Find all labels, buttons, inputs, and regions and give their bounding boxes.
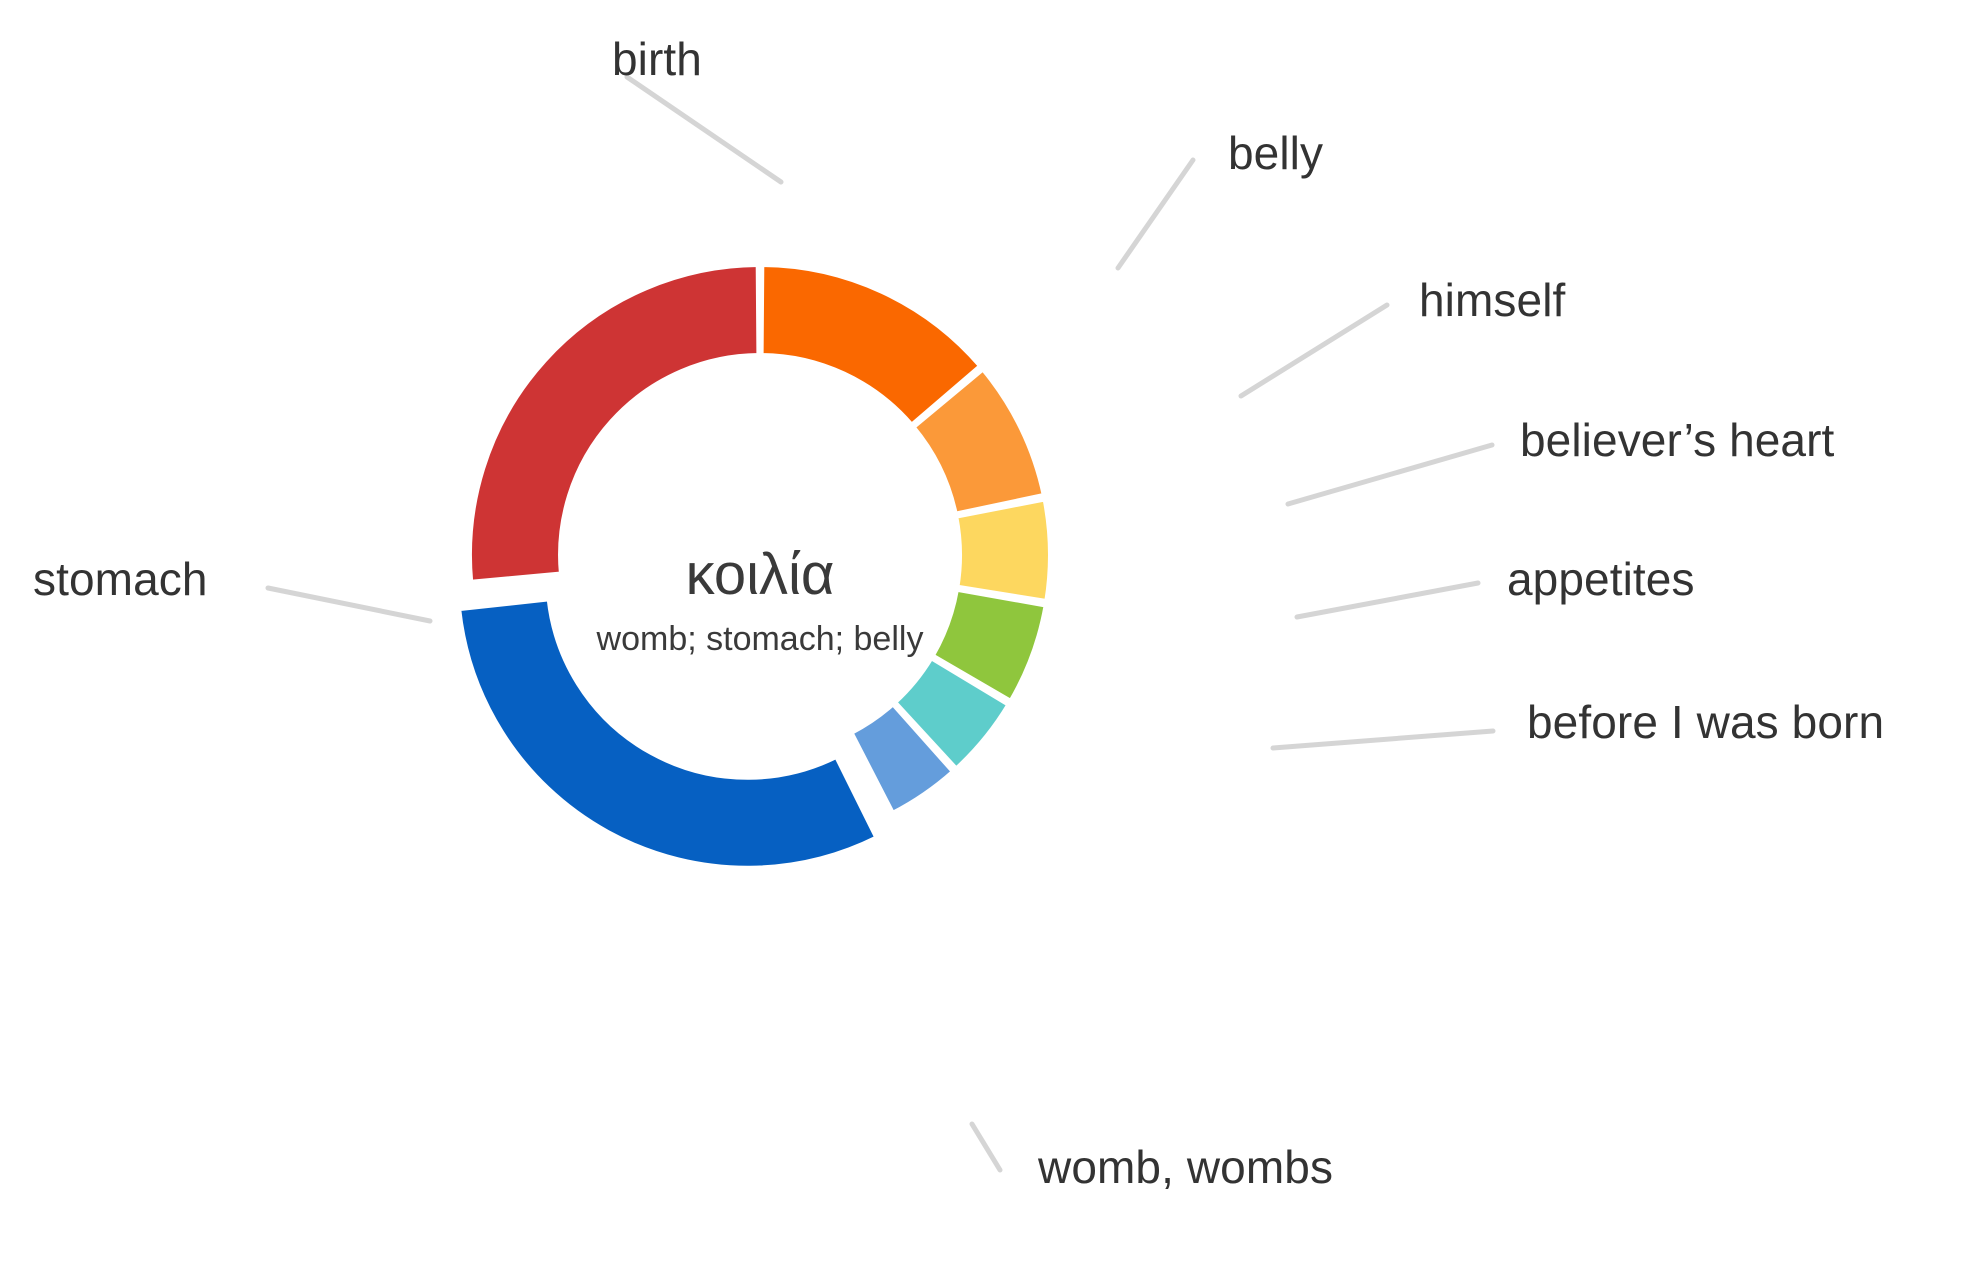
leader-line-belly — [1118, 160, 1193, 268]
center-gloss: womb; stomach; belly — [560, 620, 960, 659]
label-before-i-was-born: before I was born — [1527, 699, 1884, 745]
label-belly: belly — [1228, 130, 1323, 176]
label-birth: birth — [612, 36, 702, 82]
slice-himself[interactable] — [956, 500, 1050, 602]
leader-line-birth — [627, 77, 781, 182]
slice-stomach[interactable] — [470, 265, 758, 582]
donut-chart-figure: birth belly himself believer’s heart app… — [0, 0, 1962, 1277]
center-label: κοιλία womb; stomach; belly — [560, 545, 960, 659]
leader-line-before-i-was-born — [1273, 731, 1493, 748]
donut-chart-svg — [0, 0, 1962, 1277]
leader-line-stomach — [268, 588, 430, 621]
leader-line-womb-wombs — [972, 1124, 1000, 1170]
label-womb-wombs: womb, wombs — [1038, 1144, 1333, 1190]
label-appetites: appetites — [1507, 556, 1695, 602]
label-stomach: stomach — [33, 556, 208, 602]
center-headword: κοιλία — [560, 545, 960, 606]
leader-line-believers-heart — [1288, 445, 1492, 504]
label-believers-heart: believer’s heart — [1520, 417, 1834, 463]
leader-line-appetites — [1297, 583, 1478, 617]
leader-line-himself — [1241, 305, 1387, 396]
label-himself: himself — [1419, 277, 1565, 323]
